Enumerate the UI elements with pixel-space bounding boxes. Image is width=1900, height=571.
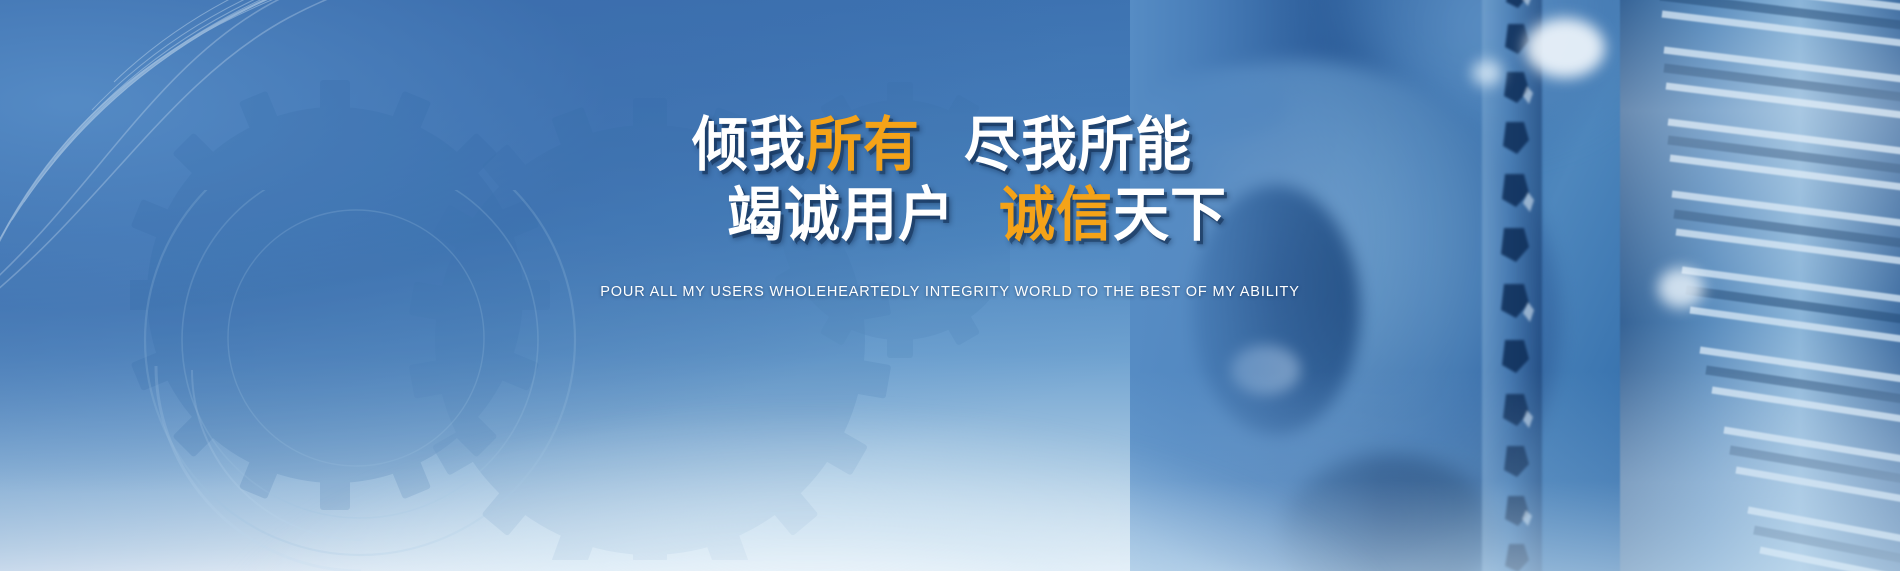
hero-banner: 倾我 所有 尽我所能 竭诚用户 诚信 天下 POUR ALL MY USERS …	[0, 0, 1900, 571]
headline-line-2: 竭诚用户 诚信 天下	[727, 188, 1227, 244]
photo-specular-highlight-4	[1658, 268, 1704, 308]
photo-specular-highlight-2	[1472, 60, 1502, 86]
line-art-swoosh-decoration	[0, 0, 590, 310]
headline-line1-part3: 尽我所能	[964, 116, 1192, 175]
banner-subtitle: POUR ALL MY USERS WHOLEHEARTEDLY INTEGRI…	[600, 284, 1299, 300]
headline-line1-part1: 倾我	[692, 116, 806, 175]
headline-line-1: 倾我 所有 尽我所能	[692, 118, 1192, 174]
photo-specular-highlight-1	[1525, 18, 1605, 78]
background-bottom-glow	[152, 320, 1520, 571]
headline-line1-part2: 所有	[806, 116, 920, 175]
headline-line2-part3: 天下	[1113, 186, 1227, 245]
headline-line2-part2: 诚信	[999, 186, 1113, 245]
headline-line2-part1: 竭诚用户	[727, 186, 955, 245]
